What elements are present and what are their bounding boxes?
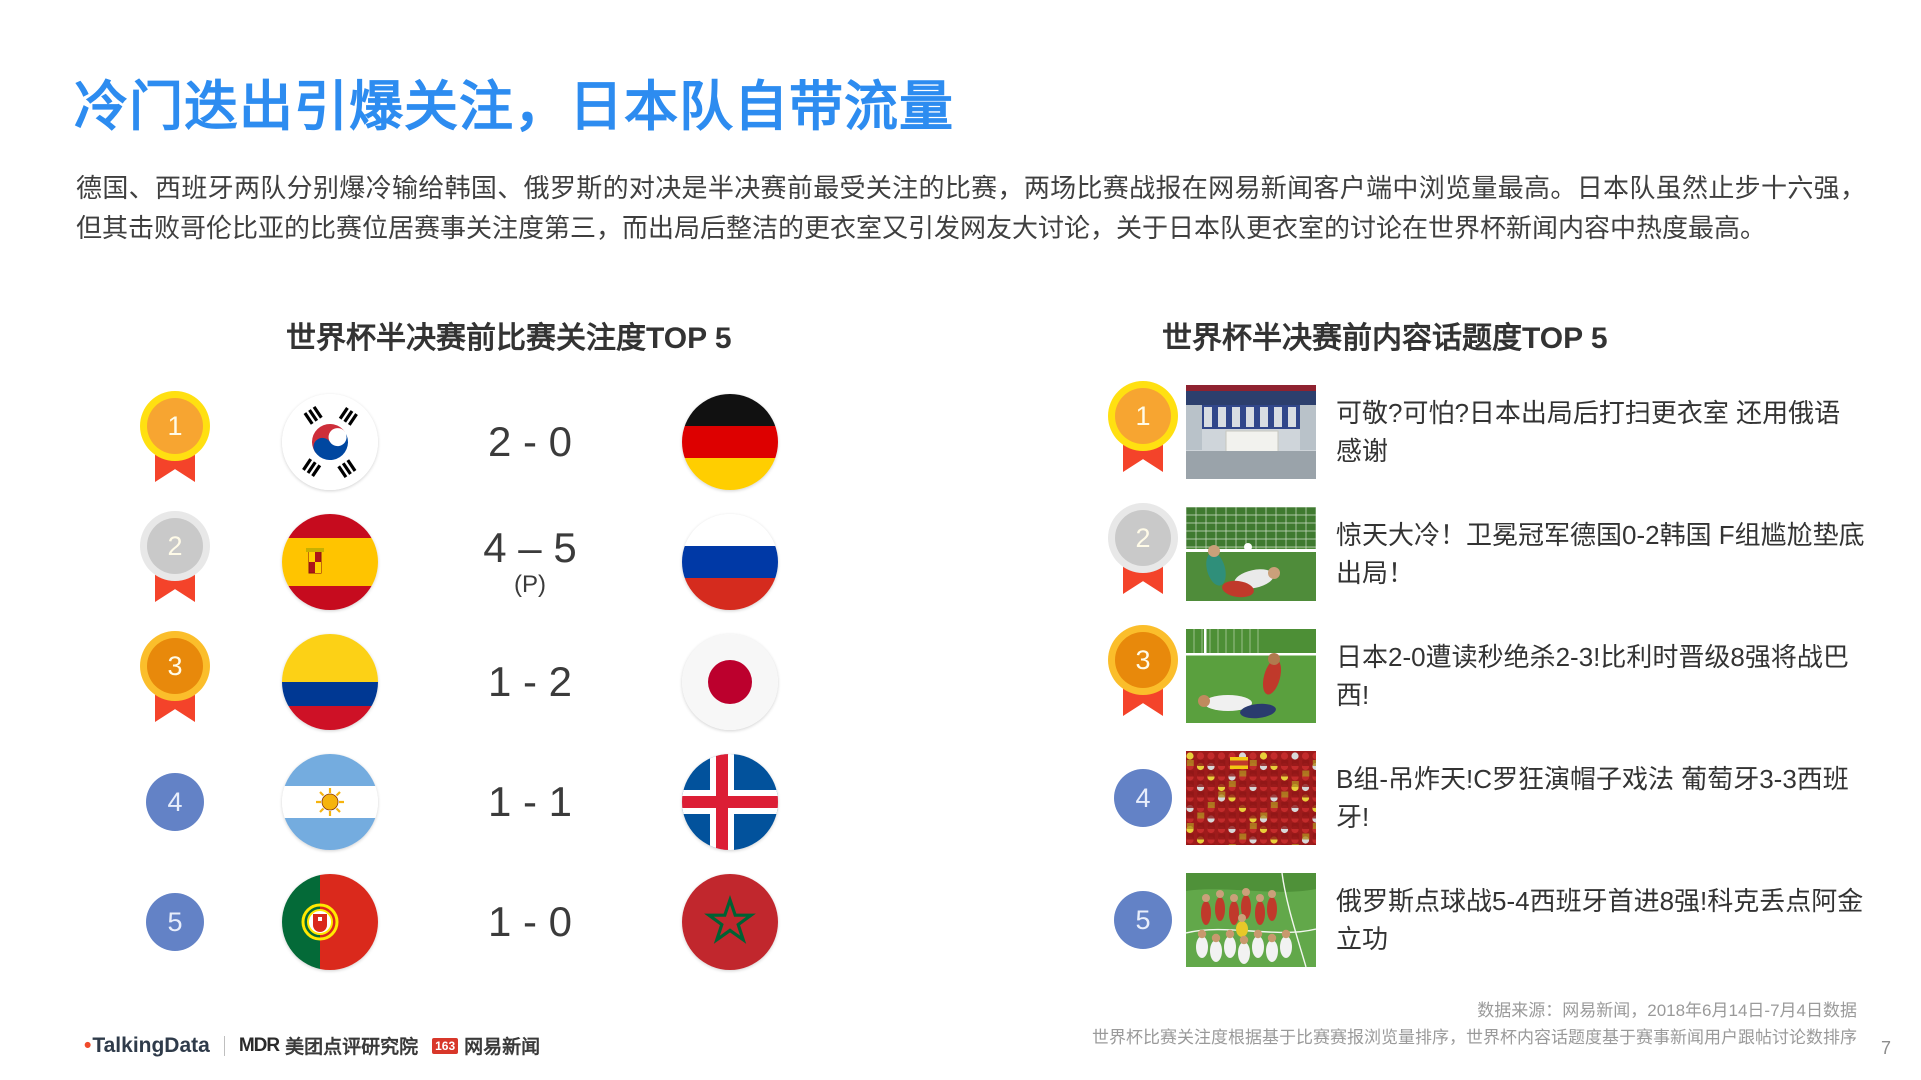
rank-number: 4 xyxy=(167,787,182,818)
source-line-1: 数据来源：网易新闻，2018年6月14日-7月4日数据 xyxy=(1092,997,1857,1024)
flag-icon-iceland xyxy=(682,754,778,850)
match-list: 1 2 - 0 xyxy=(120,382,920,982)
intro-paragraph: 德国、西班牙两队分别爆冷输给韩国、俄罗斯的对决是半决赛前最受关注的比赛，两场比赛… xyxy=(76,168,1866,248)
rank-badge-5: 5 xyxy=(146,893,204,951)
news-headline[interactable]: 惊天大冷！卫冕冠军德国0-2韩国 F组尴尬垫底出局！ xyxy=(1336,516,1866,592)
rank-number: 5 xyxy=(1135,905,1150,936)
score-value: 1 - 2 xyxy=(488,658,572,705)
medal-icon-3: 3 xyxy=(1112,632,1174,720)
news-rank-cell: 3 xyxy=(1100,632,1186,720)
rank-number: 3 xyxy=(1135,645,1150,676)
flag-icon-morocco xyxy=(682,874,778,970)
source-note: 数据来源：网易新闻，2018年6月14日-7月4日数据 世界杯比赛关注度根据基于… xyxy=(1092,997,1857,1051)
news-headline[interactable]: 俄罗斯点球战5-4西班牙首进8强!科克丢点阿金立功 xyxy=(1336,882,1866,958)
news-list: 1 可敬?可怕?日本出局后打扫更衣室 还用俄语感谢 2 xyxy=(1100,382,1900,992)
flag-icon-japan xyxy=(682,634,778,730)
away-team-cell xyxy=(630,874,830,970)
flag-icon-russia xyxy=(682,514,778,610)
flag-icon-argentina xyxy=(282,754,378,850)
medal-icon-2: 2 xyxy=(1112,510,1174,598)
mdr-mark-text: MDR xyxy=(239,1035,279,1057)
news-headline[interactable]: B组-吊炸天!C罗狂演帽子戏法 葡萄牙3-3西班牙! xyxy=(1336,760,1866,836)
match-rank-cell: 2 xyxy=(120,518,230,606)
score-value: 2 - 0 xyxy=(488,418,572,465)
medal-disc: 2 xyxy=(147,518,203,574)
news-thumbnail-red-crowd-photo xyxy=(1186,751,1316,845)
match-row: 2 4 – 5 (P) xyxy=(120,502,920,622)
news-thumbnail-goal-save-photo xyxy=(1186,507,1316,601)
news-row[interactable]: 5 俄罗斯点球战5-4西班牙首进8强!科克丢点阿金立功 xyxy=(1100,870,1900,970)
match-rank-cell: 4 xyxy=(120,773,230,831)
match-rank-cell: 5 xyxy=(120,893,230,951)
match-score: 1 - 1 xyxy=(430,780,630,824)
match-score: 1 - 2 xyxy=(430,660,630,704)
rank-badge-4: 4 xyxy=(1114,769,1172,827)
talkingdata-dot-icon: • xyxy=(84,1034,91,1058)
page-number: 7 xyxy=(1881,1038,1891,1059)
medal-disc: 1 xyxy=(1115,388,1171,444)
slide-root: 冷门迭出引爆关注，日本队自带流量 德国、西班牙两队分别爆冷输给韩国、俄罗斯的对决… xyxy=(0,0,1921,1080)
match-row: 5 1 - 0 xyxy=(120,862,920,982)
news-rank-cell: 1 xyxy=(1100,388,1186,476)
news-rank-cell: 5 xyxy=(1100,891,1186,949)
news-thumbnail-players-pitch-photo xyxy=(1186,629,1316,723)
score-note: (P) xyxy=(430,572,630,597)
medal-disc: 3 xyxy=(147,638,203,694)
medal-disc: 1 xyxy=(147,398,203,454)
match-score: 2 - 0 xyxy=(430,420,630,464)
home-team-cell xyxy=(230,394,430,490)
match-rank-cell: 3 xyxy=(120,638,230,726)
news-row[interactable]: 2 惊天大冷！卫冕冠军德国0-2韩国 F组尴尬垫底出局！ xyxy=(1100,504,1900,604)
medal-icon-3: 3 xyxy=(144,638,206,726)
talkingdata-logo: • TalkingData xyxy=(84,1034,210,1058)
score-value: 1 - 0 xyxy=(488,898,572,945)
rank-number: 4 xyxy=(1135,783,1150,814)
mdr-logo: MDR 美团点评研究院 xyxy=(239,1032,418,1059)
rank-number: 3 xyxy=(167,651,182,682)
medal-disc: 2 xyxy=(1115,510,1171,566)
rank-number: 5 xyxy=(167,907,182,938)
match-rank-cell: 1 xyxy=(120,398,230,486)
rank-badge-4: 4 xyxy=(146,773,204,831)
mdr-logo-text: 美团点评研究院 xyxy=(285,1032,418,1059)
match-row: 1 2 - 0 xyxy=(120,382,920,502)
news-rank-cell: 2 xyxy=(1100,510,1186,598)
match-row: 3 1 - 2 xyxy=(120,622,920,742)
match-score: 1 - 0 xyxy=(430,900,630,944)
score-value: 4 – 5 xyxy=(483,524,576,571)
rank-number: 1 xyxy=(167,411,182,442)
news-headline[interactable]: 可敬?可怕?日本出局后打扫更衣室 还用俄语感谢 xyxy=(1336,394,1866,470)
flag-icon-colombia xyxy=(282,634,378,730)
match-row: 4 1 - 1 xyxy=(120,742,920,862)
rank-badge-5: 5 xyxy=(1114,891,1172,949)
medal-icon-2: 2 xyxy=(144,518,206,606)
netease-logo: 163 网易新闻 xyxy=(432,1032,540,1059)
home-team-cell xyxy=(230,514,430,610)
rank-number: 2 xyxy=(167,531,182,562)
rank-number: 1 xyxy=(1135,401,1150,432)
news-row[interactable]: 1 可敬?可怕?日本出局后打扫更衣室 还用俄语感谢 xyxy=(1100,382,1900,482)
footer-logos: • TalkingData MDR 美团点评研究院 163 网易新闻 xyxy=(84,1032,540,1059)
page-title: 冷门迭出引爆关注，日本队自带流量 xyxy=(74,62,954,141)
news-row[interactable]: 3 日本2-0遭读秒绝杀2-3!比利时晋级8强将战巴西! xyxy=(1100,626,1900,726)
flag-icon-germany xyxy=(682,394,778,490)
match-score: 4 – 5 (P) xyxy=(430,526,630,597)
away-team-cell xyxy=(630,394,830,490)
news-rank-cell: 4 xyxy=(1100,769,1186,827)
source-line-2: 世界杯比赛关注度根据基于比赛赛报浏览量排序，世界杯内容话题度基于赛事新闻用户跟帖… xyxy=(1092,1024,1857,1051)
medal-icon-1: 1 xyxy=(144,398,206,486)
netease-badge-icon: 163 xyxy=(432,1038,458,1054)
score-value: 1 - 1 xyxy=(488,778,572,825)
away-team-cell xyxy=(630,634,830,730)
home-team-cell xyxy=(230,874,430,970)
away-team-cell xyxy=(630,514,830,610)
logo-divider xyxy=(224,1036,225,1056)
news-thumbnail-locker-room-photo xyxy=(1186,385,1316,479)
news-row[interactable]: 4 B组-吊炸天!C罗狂演帽子戏法 葡萄牙3-3西班牙! xyxy=(1100,748,1900,848)
flag-icon-spain xyxy=(282,514,378,610)
medal-icon-1: 1 xyxy=(1112,388,1174,476)
rank-number: 2 xyxy=(1135,523,1150,554)
home-team-cell xyxy=(230,634,430,730)
right-section-heading: 世界杯半决赛前内容话题度TOP 5 xyxy=(1162,313,1608,357)
news-headline[interactable]: 日本2-0遭读秒绝杀2-3!比利时晋级8强将战巴西! xyxy=(1336,638,1866,714)
home-team-cell xyxy=(230,754,430,850)
away-team-cell xyxy=(630,754,830,850)
flag-icon-portugal xyxy=(282,874,378,970)
netease-logo-text: 网易新闻 xyxy=(464,1032,540,1059)
medal-disc: 3 xyxy=(1115,632,1171,688)
news-thumbnail-celebration-photo xyxy=(1186,873,1316,967)
talkingdata-logo-text: TalkingData xyxy=(92,1034,209,1058)
left-section-heading: 世界杯半决赛前比赛关注度TOP 5 xyxy=(286,313,732,357)
flag-icon-korea xyxy=(282,394,378,490)
